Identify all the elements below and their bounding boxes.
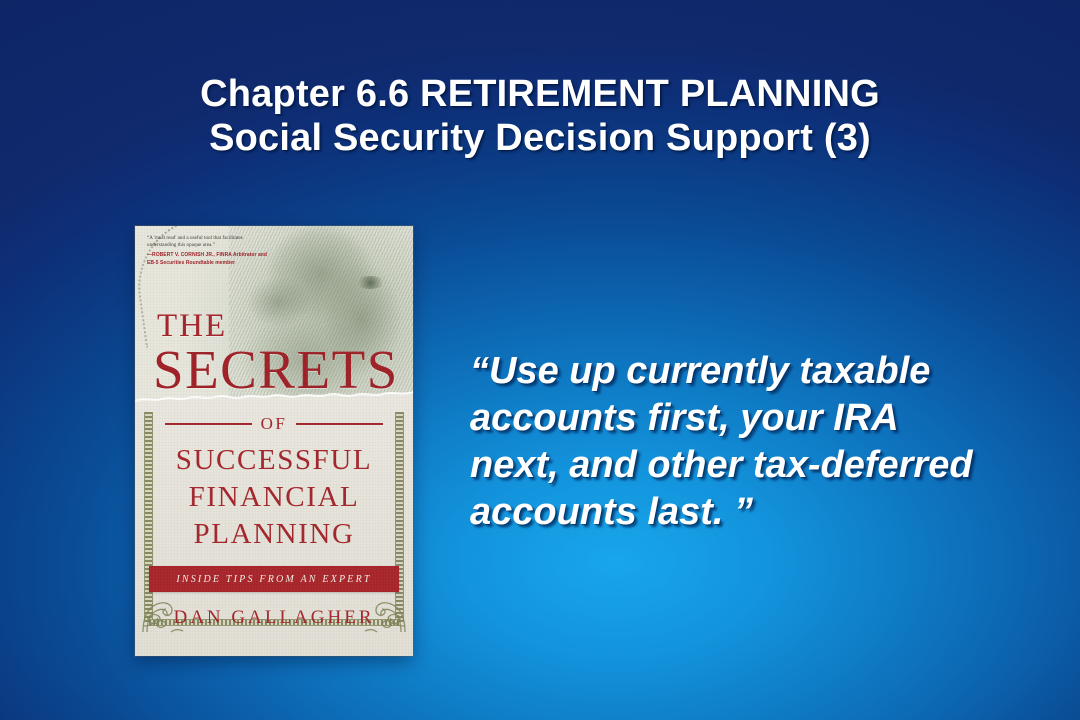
slide-canvas: Chapter 6.6 RETIREMENT PLANNING Social S… [0,0,1080,720]
cover-word-secrets: SECRETS [153,338,399,401]
cover-banner: INSIDE TIPS FROM AN EXPERT [149,566,399,592]
slide-title: Chapter 6.6 RETIREMENT PLANNING Social S… [0,72,1080,160]
portrait-eye-detail [355,276,385,289]
cover-word-of: OF [261,414,288,434]
of-rule-right [296,423,383,425]
title-line-2: Social Security Decision Support (3) [0,116,1080,160]
title-line-1: Chapter 6.6 RETIREMENT PLANNING [0,72,1080,116]
cover-testimonial: “A 'must read' and a useful tool that fa… [147,235,269,267]
testimonial-attribution: —ROBERT V. CORNISH JR., FINRA Arbitrator… [147,252,269,267]
cover-word-planning: PLANNING [135,518,413,551]
quote-text: “Use up currently taxable accounts first… [470,348,990,536]
testimonial-quote: “A 'must read' and a useful tool that fa… [147,235,269,249]
cover-banner-text: INSIDE TIPS FROM AN EXPERT [176,574,371,585]
quote-block: “Use up currently taxable accounts first… [470,348,990,536]
cover-word-successful: SUCCESSFUL [135,444,413,477]
of-rule-left [165,423,252,425]
book-cover-image: “A 'must read' and a useful tool that fa… [135,226,413,656]
cover-author-name: DAN GALLAGHER [135,607,413,629]
cover-of-row: OF [165,414,383,434]
cover-word-financial: FINANCIAL [135,481,413,514]
